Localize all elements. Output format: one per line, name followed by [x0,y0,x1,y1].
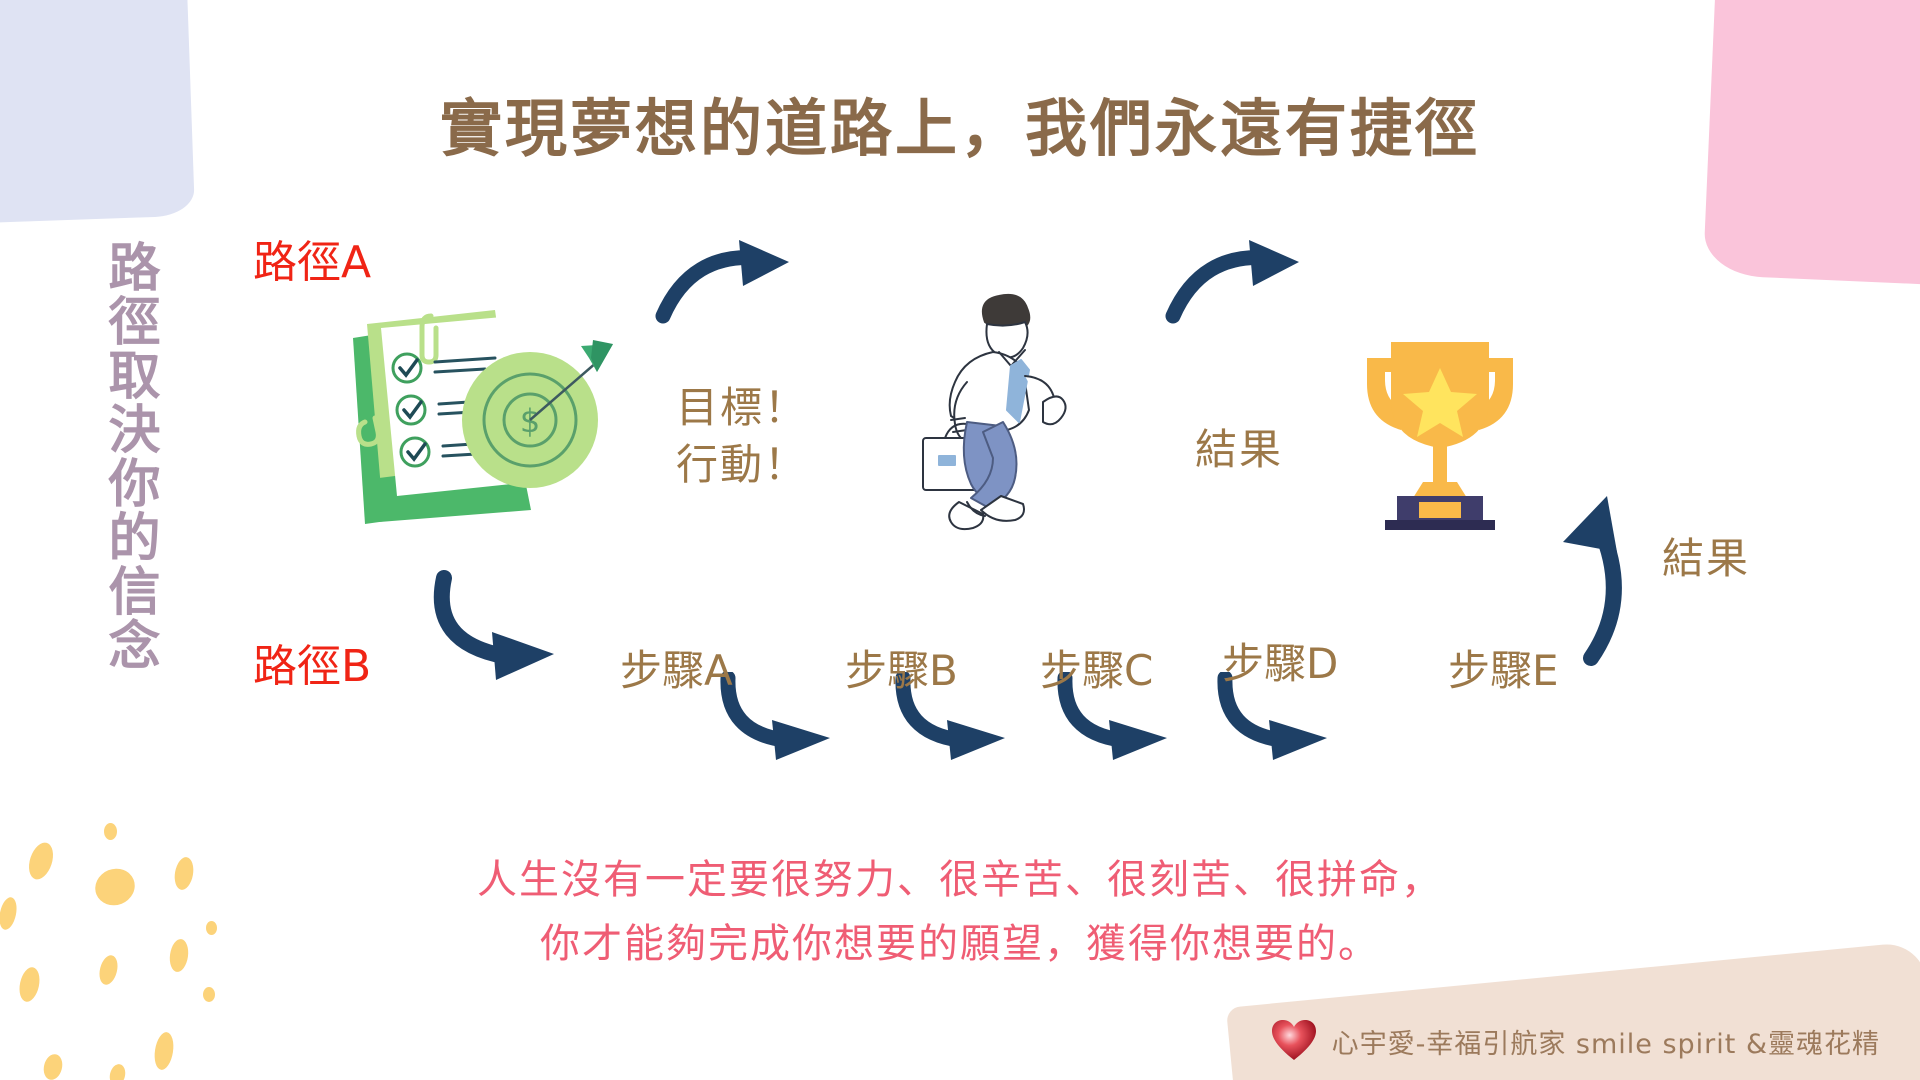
goal-line-1: 目標！ [676,380,808,437]
running-businessman-icon [915,290,1105,545]
result-middle-label: 結果 [1195,416,1283,477]
vertical-tagline: 路徑取決你的信念 [92,240,158,672]
footer-brand-text: 心宇愛-幸福引航家 smile spirit &靈魂花精 [1332,1022,1880,1061]
step-label-e: 步驟E [1448,637,1559,698]
page-title: 實現夢想的道路上，我們永遠有捷徑 [0,78,1920,168]
closing-message: 人生沒有一定要很努力、很辛苦、很刻苦、很拼命， 你才能夠完成你想要的願望，獲得你… [0,848,1920,976]
heart-icon [1272,1020,1316,1062]
step-label-a: 步驟A [620,637,733,698]
checklist-target-icon: $ [345,310,625,555]
path-a-label: 路徑A [253,226,371,290]
step-label-d: 步驟D [1222,630,1338,691]
result-right-label: 結果 [1662,525,1750,586]
path-b-label: 路徑B [253,630,371,694]
closing-message-line-2: 你才能夠完成你想要的願望，獲得你想要的。 [0,912,1920,976]
goal-line-2: 行動！ [676,437,808,494]
svg-text:$: $ [520,402,540,440]
curved-arrow-right-icon [1165,238,1325,333]
step-label-b: 步驟B [845,637,958,698]
slide-canvas: 實現夢想的道路上，我們永遠有捷徑 路徑取決你的信念 路徑A 路徑B [0,0,1920,1080]
curved-arrow-right-icon [655,238,815,333]
trophy-icon [1355,330,1525,535]
goal-action-note: 目標！ 行動！ [676,380,808,493]
footer-branding: 心宇愛-幸福引航家 smile spirit &靈魂花精 [1272,1020,1880,1062]
curved-arrow-right-icon [430,570,610,685]
closing-message-line-1: 人生沒有一定要很努力、很辛苦、很刻苦、很拼命， [0,848,1920,912]
step-label-c: 步驟C [1040,637,1153,698]
